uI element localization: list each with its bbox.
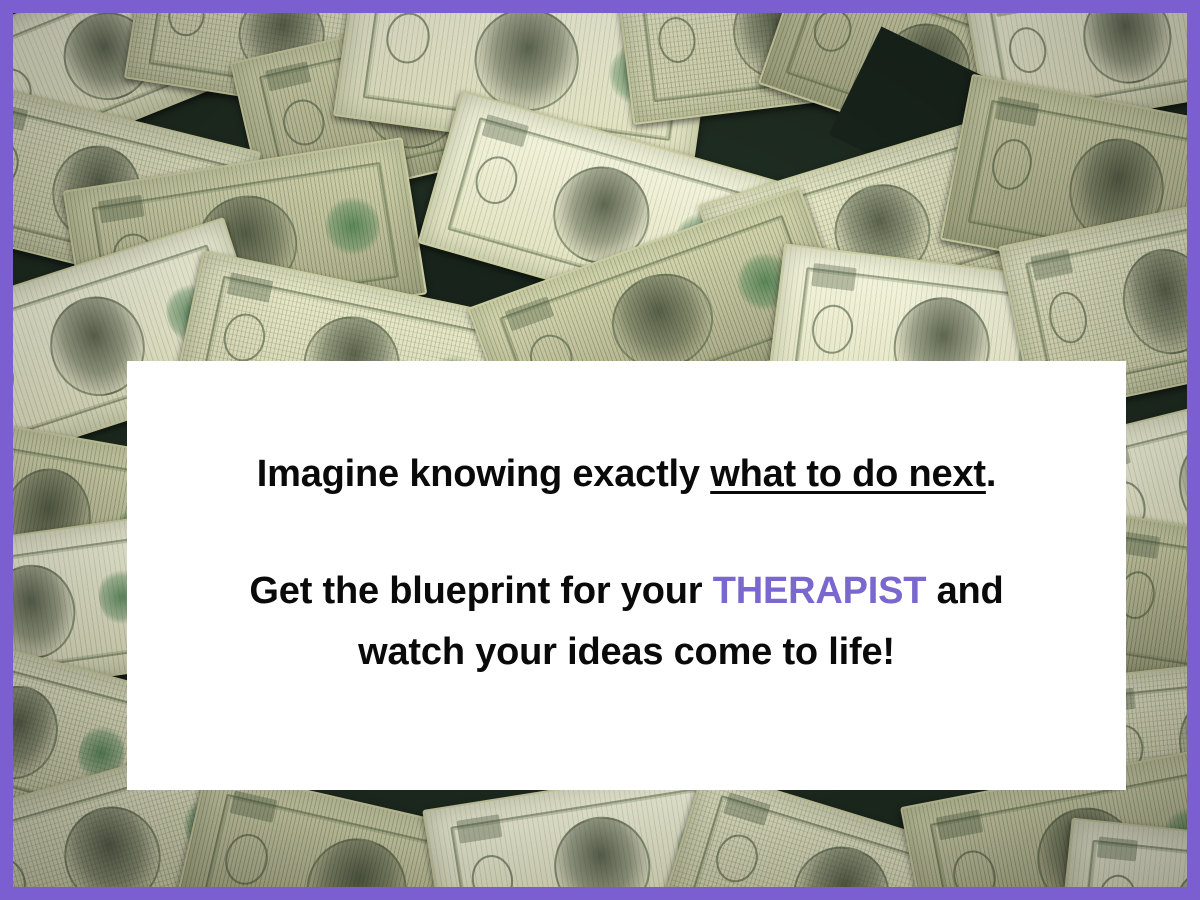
subheadline-line2: watch your ideas come to life! <box>358 631 895 673</box>
accent-word-therapist: THERAPIST <box>713 570 927 612</box>
subheadline-lead: Get the blueprint for your <box>249 570 712 612</box>
headline-underlined-phrase: what to do next <box>710 453 986 495</box>
slide: Imagine knowing exactly what to do next.… <box>0 0 1200 900</box>
headline: Imagine knowing exactly what to do next. <box>163 449 1090 499</box>
content-card: Imagine knowing exactly what to do next.… <box>127 361 1126 790</box>
headline-trail: . <box>986 453 996 495</box>
subheadline-line1-trail: and <box>926 570 1003 612</box>
headline-lead: Imagine knowing exactly <box>257 453 710 495</box>
subheadline: Get the blueprint for your THERAPIST and… <box>163 561 1090 683</box>
banknote <box>1056 818 1187 887</box>
